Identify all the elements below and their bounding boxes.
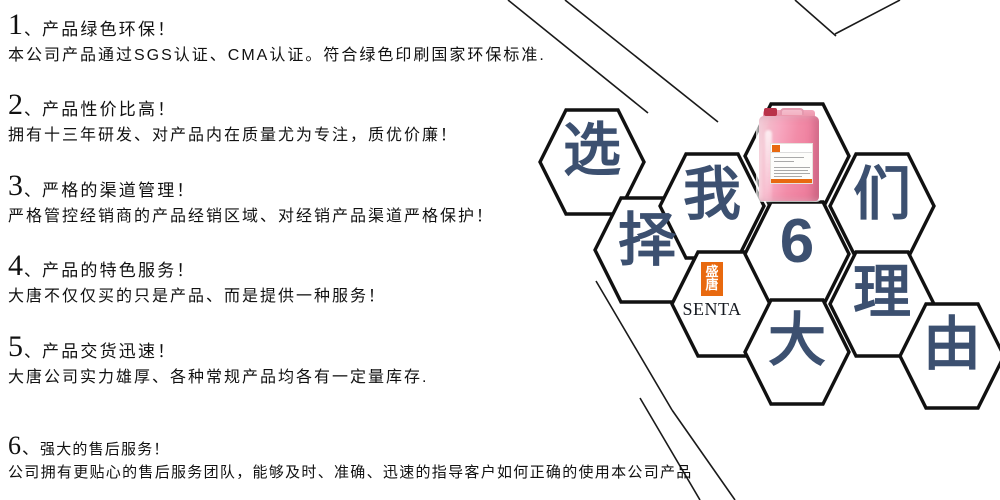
product-handle: [780, 108, 804, 115]
reasons-list: 1 、 产品绿色环保！ 本公司产品通过SGS认证、CMA认证。符合绿色印刷国家环…: [0, 0, 1000, 500]
reason-comma-5: 、: [23, 343, 42, 362]
reason-comma-1: 、: [23, 21, 42, 40]
reason-heading-6: 6 、 强大的售后服务！: [8, 434, 693, 459]
reason-heading-4: 4 、 产品的特色服务！: [8, 252, 386, 281]
reason-title-2: 产品性价比高！: [42, 101, 176, 120]
reason-item-2: 2 、 产品性价比高！ 拥有十三年研发、对产品内在质量尤为专注，质优价廉！: [8, 91, 458, 145]
reason-item-3: 3 、 严格的渠道管理！ 严格管控经销商的产品经销区域、对经销产品渠道严格保护！: [8, 172, 494, 226]
brand-char-sheng: 盛: [705, 266, 718, 279]
reason-number-1: 1: [8, 11, 23, 40]
reason-item-5: 5 、 产品交货迅速！ 大唐公司实力雄厚、各种常规产品均各有一定量库存.: [8, 333, 428, 387]
reason-desc-2: 拥有十三年研发、对产品内在质量尤为专注，质优价廉！: [8, 126, 458, 145]
reason-comma-4: 、: [23, 262, 42, 281]
product-label-footer-bar: [771, 179, 812, 183]
product-label-brand-mark: [772, 145, 780, 152]
reason-number-6: 6: [8, 434, 21, 459]
reason-item-6: 6 、 强大的售后服务！ 公司拥有更贴心的售后服务团队，能够及时、准确、迅速的指…: [8, 434, 693, 482]
reason-heading-5: 5 、 产品交货迅速！: [8, 333, 428, 362]
reason-number-4: 4: [8, 252, 23, 281]
product-label-header: [771, 144, 812, 153]
reason-heading-1: 1 、 产品绿色环保！: [8, 11, 546, 40]
product-container-image: [756, 106, 822, 202]
reason-heading-3: 3 、 严格的渠道管理！: [8, 172, 494, 201]
reason-comma-3: 、: [23, 182, 42, 201]
reason-title-3: 严格的渠道管理！: [42, 182, 196, 201]
brand-logo: 盛 唐 SENTA: [673, 262, 751, 340]
brand-char-tang: 唐: [705, 279, 718, 292]
product-cap: [764, 108, 777, 116]
reason-desc-3: 严格管控经销商的产品经销区域、对经销产品渠道严格保护！: [8, 207, 494, 226]
brand-logo-wordmark: SENTA: [673, 299, 751, 320]
reason-title-5: 产品交货迅速！: [42, 343, 176, 362]
reason-desc-1: 本公司产品通过SGS认证、CMA认证。符合绿色印刷国家环保标准.: [8, 46, 546, 65]
reason-title-6: 强大的售后服务！: [40, 442, 170, 459]
reason-item-4: 4 、 产品的特色服务！ 大唐不仅仅买的只是产品、而是提供一种服务！: [8, 252, 386, 306]
reason-desc-6: 公司拥有更贴心的售后服务团队，能够及时、准确、迅速的指导客户如何正确的使用本公司…: [8, 464, 693, 482]
reason-number-5: 5: [8, 333, 23, 362]
reason-desc-5: 大唐公司实力雄厚、各种常规产品均各有一定量库存.: [8, 368, 428, 387]
reason-heading-2: 2 、 产品性价比高！: [8, 91, 458, 120]
product-body: [759, 116, 819, 201]
reason-number-3: 3: [8, 172, 23, 201]
reason-comma-6: 、: [21, 440, 40, 459]
reason-number-2: 2: [8, 91, 23, 120]
reason-title-4: 产品的特色服务！: [42, 262, 196, 281]
reason-desc-4: 大唐不仅仅买的只是产品、而是提供一种服务！: [8, 287, 386, 306]
reason-title-1: 产品绿色环保！: [42, 21, 176, 40]
reason-item-1: 1 、 产品绿色环保！ 本公司产品通过SGS认证、CMA认证。符合绿色印刷国家环…: [8, 11, 546, 65]
brand-logo-seal: 盛 唐: [701, 262, 723, 296]
reason-comma-2: 、: [23, 101, 42, 120]
product-label: [770, 143, 813, 184]
